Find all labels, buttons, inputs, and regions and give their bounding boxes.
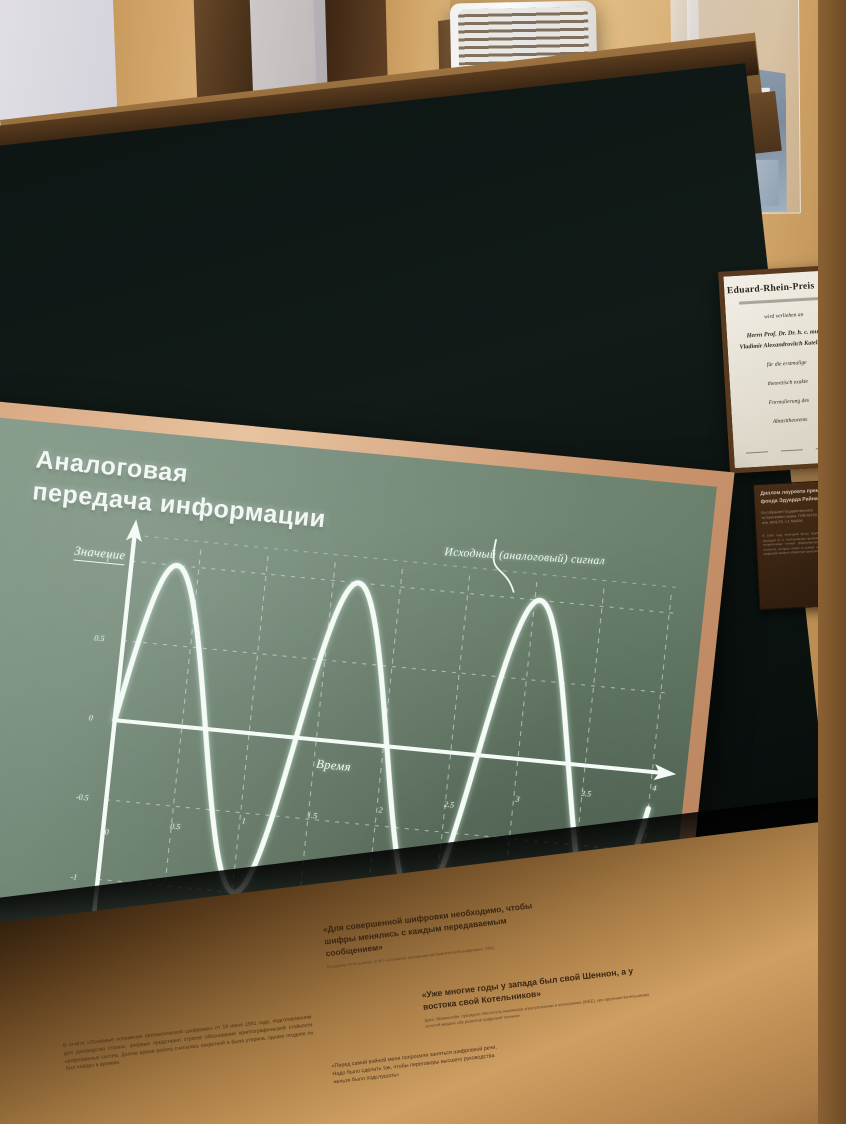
- x-tick-label: 3.5: [581, 789, 592, 799]
- gridline-vertical: [165, 550, 201, 886]
- y-tick-label: 0.5: [94, 633, 105, 643]
- y-tick-label: -0.5: [76, 792, 90, 802]
- caption-quote-1: «Для совершенной шифровки необходимо, чт…: [322, 898, 555, 959]
- museum-room-photo: Eduard-Rhein-Preis 1999 wird verliehen a…: [0, 0, 846, 1124]
- annotation-leader-line: [490, 540, 519, 592]
- gridline-horizontal: [132, 561, 676, 613]
- certificate-rule: [739, 297, 827, 305]
- x-tick-label: 0.5: [170, 822, 181, 832]
- gridline-horizontal: [123, 641, 667, 693]
- gridline-vertical: [299, 563, 335, 899]
- signature-line: [746, 442, 769, 453]
- caption-body-right: «Перед самой войной меня попросили занят…: [331, 1042, 513, 1087]
- caption-body-left: В отчёте «Основные положения автоматичес…: [63, 1014, 315, 1074]
- x-tick-label: 2.5: [444, 800, 455, 810]
- signature-line: [780, 440, 803, 451]
- gridline-horizontal: [134, 535, 678, 587]
- x-tick-label: 1.5: [307, 811, 318, 821]
- y-tick-label: -1: [70, 872, 78, 882]
- case-right-edge: [818, 0, 846, 1124]
- y-axis-line: [92, 533, 135, 931]
